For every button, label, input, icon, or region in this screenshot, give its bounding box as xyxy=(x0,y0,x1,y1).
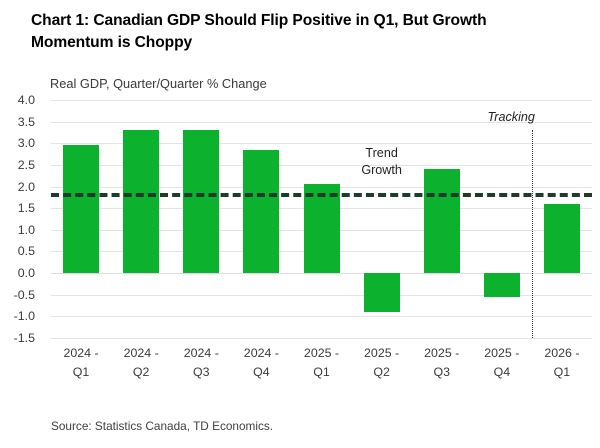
y-axis-tick-label: 1.0 xyxy=(0,223,35,237)
bar xyxy=(364,273,400,312)
x-axis-tick-label: 2024 -Q4 xyxy=(228,344,294,382)
y-axis-tick-label: -1.0 xyxy=(0,309,35,323)
x-tick-year: 2024 - xyxy=(228,344,294,363)
y-axis-tick-label: 1.5 xyxy=(0,201,35,215)
bar xyxy=(484,273,520,297)
y-axis-tick-label: 3.0 xyxy=(0,136,35,150)
y-axis-tick-label: 0.5 xyxy=(0,244,35,258)
y-axis-tick-label: 0.0 xyxy=(0,266,35,280)
x-tick-year: 2025 - xyxy=(289,344,355,363)
x-tick-quarter: Q1 xyxy=(529,363,595,382)
tracking-divider xyxy=(532,130,533,338)
y-axis-tick-label: 3.5 xyxy=(0,115,35,129)
x-tick-quarter: Q2 xyxy=(108,363,174,382)
bar xyxy=(183,130,219,273)
y-axis-tick-label: 2.5 xyxy=(0,158,35,172)
x-tick-quarter: Q4 xyxy=(228,363,294,382)
trend-annotation-line-1: Trend xyxy=(338,145,426,162)
source-note: Source: Statistics Canada, TD Economics. xyxy=(51,419,273,433)
bar xyxy=(243,150,279,273)
gridline xyxy=(51,316,592,317)
y-axis-tick-label: -1.5 xyxy=(0,331,35,345)
x-tick-year: 2024 - xyxy=(168,344,234,363)
x-axis-tick-label: 2025 -Q1 xyxy=(289,344,355,382)
x-axis-tick-label: 2024 -Q3 xyxy=(168,344,234,382)
x-tick-year: 2025 - xyxy=(349,344,415,363)
x-axis-labels: 2024 -Q12024 -Q22024 -Q32024 -Q42025 -Q1… xyxy=(51,344,592,400)
y-axis-tick-label: -0.5 xyxy=(0,288,35,302)
x-tick-year: 2024 - xyxy=(48,344,114,363)
x-axis-tick-label: 2025 -Q4 xyxy=(469,344,535,382)
chart-card: Chart 1: Canadian GDP Should Flip Positi… xyxy=(0,0,600,448)
y-axis-tick-label: 4.0 xyxy=(0,93,35,107)
bar xyxy=(63,145,99,273)
chart-subtitle: Real GDP, Quarter/Quarter % Change xyxy=(50,76,267,91)
x-tick-quarter: Q4 xyxy=(469,363,535,382)
x-tick-quarter: Q3 xyxy=(168,363,234,382)
x-axis-tick-label: 2025 -Q2 xyxy=(349,344,415,382)
gridline xyxy=(51,100,592,101)
trend-growth-line xyxy=(51,193,592,197)
x-tick-year: 2024 - xyxy=(108,344,174,363)
x-tick-quarter: Q3 xyxy=(409,363,475,382)
bar xyxy=(123,130,159,273)
plot-area: 4.03.53.02.52.01.51.00.50.0-0.5-1.0-1.5T… xyxy=(51,100,592,338)
trend-growth-annotation: TrendGrowth xyxy=(338,145,426,179)
x-axis-tick-label: 2026 -Q1 xyxy=(529,344,595,382)
bar xyxy=(304,184,340,273)
x-tick-year: 2025 - xyxy=(409,344,475,363)
x-tick-year: 2026 - xyxy=(529,344,595,363)
trend-annotation-line-2: Growth xyxy=(338,162,426,179)
x-axis-tick-label: 2024 -Q1 xyxy=(48,344,114,382)
y-axis-tick-label: 2.0 xyxy=(0,180,35,194)
gridline xyxy=(51,338,592,339)
page-title: Chart 1: Canadian GDP Should Flip Positi… xyxy=(31,10,551,54)
x-axis-tick-label: 2024 -Q2 xyxy=(108,344,174,382)
x-tick-quarter: Q1 xyxy=(48,363,114,382)
x-tick-quarter: Q2 xyxy=(349,363,415,382)
bar xyxy=(424,169,460,273)
bar xyxy=(544,204,580,273)
x-tick-year: 2025 - xyxy=(469,344,535,363)
x-tick-quarter: Q1 xyxy=(289,363,355,382)
x-axis-tick-label: 2025 -Q3 xyxy=(409,344,475,382)
tracking-label: Tracking xyxy=(488,110,535,124)
